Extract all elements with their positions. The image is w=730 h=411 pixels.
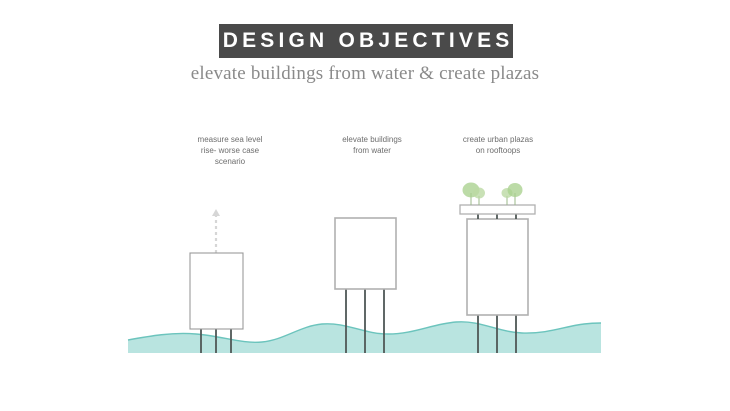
building-block-2 (335, 218, 396, 289)
rooftop-trees-group (463, 183, 523, 206)
roof-plaza-slab (460, 205, 535, 214)
tree-icon (473, 188, 485, 206)
section-diagram (0, 0, 730, 411)
sea-level-rise-arrow-icon (212, 209, 220, 253)
building-block-1 (190, 253, 243, 329)
building-block-3 (467, 219, 528, 315)
tree-icon (508, 183, 523, 205)
structure-measure-sea-level (190, 209, 243, 353)
